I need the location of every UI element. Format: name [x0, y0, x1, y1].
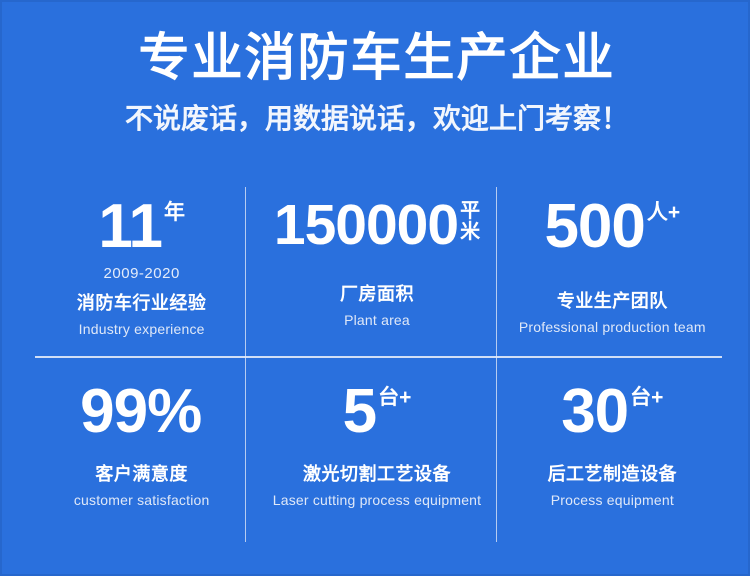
stat-label-en: Process equipment: [551, 492, 674, 508]
stats-banner: 专业消防车生产企业 不说废话，用数据说话，欢迎上门考察！ 11 年 2009-2…: [0, 0, 750, 576]
stat-value: 99%: [80, 383, 201, 442]
grid-divider-horizontal: [35, 356, 722, 358]
stat-unit: 平 米: [460, 201, 480, 243]
stat-number-row: 150000 平 米: [274, 198, 480, 252]
stat-label-en: customer satisfaction: [74, 492, 210, 508]
stat-cell-process-equipment: 30 台+ 后工艺制造设备 Process equipment: [495, 365, 730, 546]
page-subtitle: 不说废话，用数据说话，欢迎上门考察！: [2, 102, 750, 136]
stat-label-cn: 专业生产团队: [557, 287, 668, 313]
stat-year-range: 2009-2020: [104, 265, 180, 282]
stat-number-row: 11 年: [98, 198, 185, 257]
stat-value: 5: [343, 383, 376, 442]
stat-cell-laser-cutting-equipment: 5 台+ 激光切割工艺设备 Laser cutting process equi…: [259, 365, 494, 546]
stat-unit: 人+: [647, 202, 680, 224]
page-title: 专业消防车生产企业: [2, 28, 750, 88]
stat-label-cn: 消防车行业经验: [77, 289, 207, 315]
stat-unit: 台+: [378, 387, 411, 409]
stat-label-en: Professional production team: [519, 319, 706, 335]
stat-value: 30: [561, 383, 628, 442]
stat-label-cn: 客户满意度: [95, 460, 188, 486]
stat-label-cn: 厂房面积: [340, 280, 414, 306]
banner-header: 专业消防车生产企业 不说废话，用数据说话，欢迎上门考察！: [2, 28, 750, 136]
stat-cell-plant-area: 150000 平 米 厂房面积 Plant area: [259, 184, 494, 365]
stat-unit-line-2: 米: [460, 222, 480, 243]
stat-label-cn: 激光切割工艺设备: [303, 460, 451, 486]
grid-divider-vertical-1: [245, 187, 246, 542]
stat-number-row: 5 台+: [343, 383, 412, 442]
stat-number-row: 99%: [80, 383, 203, 442]
stat-cell-customer-satisfaction: 99% 客户满意度 customer satisfaction: [24, 365, 259, 546]
stat-unit-line-1: 平: [460, 201, 480, 222]
grid-divider-vertical-2: [496, 187, 497, 542]
stat-value: 150000: [274, 198, 458, 252]
stat-label-en: Industry experience: [79, 321, 205, 337]
stat-label-cn: 后工艺制造设备: [548, 460, 678, 486]
stat-number-row: 500 人+: [544, 198, 680, 257]
stat-cell-production-team: 500 人+ 专业生产团队 Professional production te…: [495, 184, 730, 365]
stat-cell-industry-experience: 11 年 2009-2020 消防车行业经验 Industry experien…: [24, 184, 259, 365]
stats-grid: 11 年 2009-2020 消防车行业经验 Industry experien…: [24, 184, 730, 546]
stat-unit: 台+: [630, 387, 663, 409]
stat-label-en: Plant area: [344, 312, 410, 328]
stat-value: 11: [98, 198, 162, 257]
stat-number-row: 30 台+: [561, 383, 663, 442]
stat-unit: 年: [164, 202, 185, 224]
stat-value: 500: [544, 198, 644, 257]
stat-label-en: Laser cutting process equipment: [273, 492, 482, 508]
